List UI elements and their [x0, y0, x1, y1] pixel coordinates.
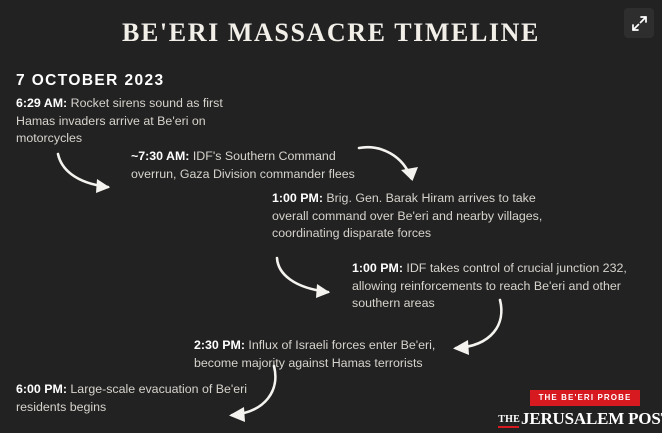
expand-diagonal-arrows-icon	[631, 15, 648, 32]
timeline-entry: 6:29 AM: Rocket sirens sound as first Ha…	[16, 95, 246, 148]
probe-badge: THE BE'ERI PROBE	[530, 390, 641, 406]
timeline-entry: 6:00 PM: Large-scale evacuation of Be'er…	[16, 381, 266, 416]
jerusalem-post-logo: THE JERUSALEM POST	[498, 410, 662, 427]
entry-time: 6:29 AM:	[16, 96, 67, 110]
logo-the-text: THE	[498, 414, 520, 427]
entry-time: 1:00 PM:	[352, 261, 403, 275]
entry-time: 2:30 PM:	[194, 338, 245, 352]
branding-block: THE BE'ERI PROBE THE JERUSALEM POST	[516, 390, 654, 427]
curved-arrow-down-right-icon	[272, 256, 352, 304]
timeline-entry: 2:30 PM: Influx of Israeli forces enter …	[194, 337, 464, 372]
timeline-entry: 1:00 PM: IDF takes control of crucial ju…	[352, 260, 652, 313]
logo-name-text: JERUSALEM POST	[521, 410, 662, 427]
expand-button[interactable]	[624, 8, 654, 38]
timeline-entry: 1:00 PM: Brig. Gen. Barak Hiram arrives …	[272, 190, 572, 243]
timeline-date-heading: 7 OCTOBER 2023	[16, 72, 165, 90]
curved-arrow-down-right-icon	[52, 152, 132, 200]
timeline-entry: ~7:30 AM: IDF's Southern Command overrun…	[131, 148, 381, 183]
page-title: BE'ERI MASSACRE TIMELINE	[0, 18, 662, 48]
infographic-canvas: BE'ERI MASSACRE TIMELINE 7 OCTOBER 2023 …	[0, 0, 662, 433]
entry-time: 6:00 PM:	[16, 382, 67, 396]
entry-time: 1:00 PM:	[272, 191, 323, 205]
entry-time: ~7:30 AM:	[131, 149, 189, 163]
